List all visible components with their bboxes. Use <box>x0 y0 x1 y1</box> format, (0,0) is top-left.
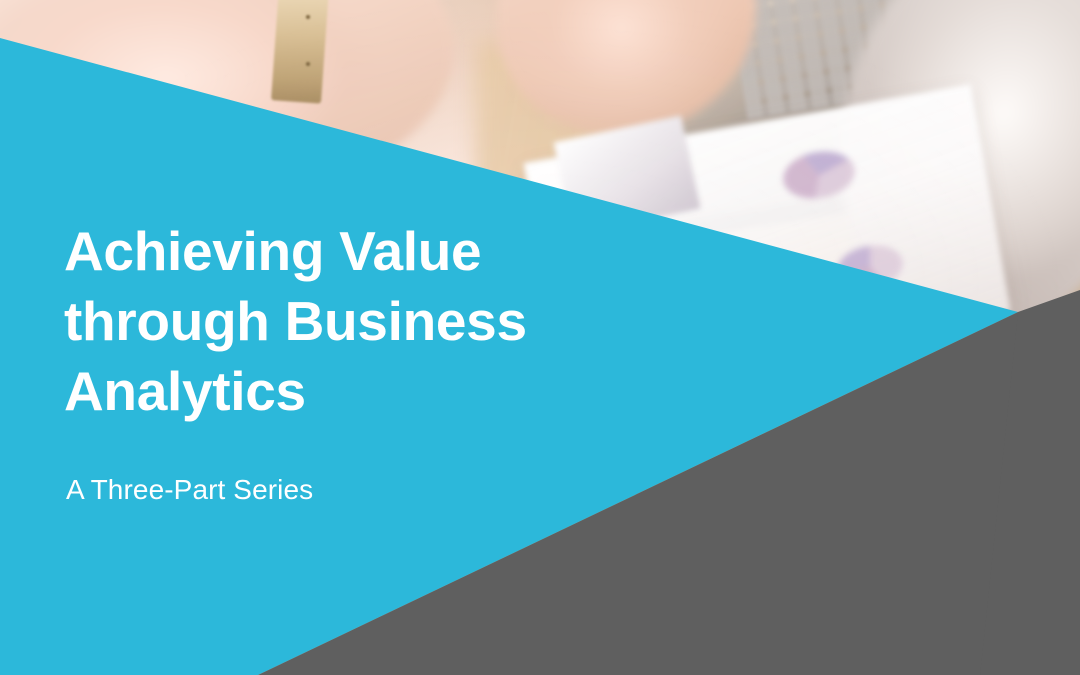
report-cover: Achieving Value through Business Analyti… <box>0 0 1080 675</box>
cover-subtitle: A Three-Part Series <box>66 473 704 507</box>
cover-text-block: Achieving Value through Business Analyti… <box>64 216 704 507</box>
page-title: Achieving Value through Business Analyti… <box>64 216 704 426</box>
